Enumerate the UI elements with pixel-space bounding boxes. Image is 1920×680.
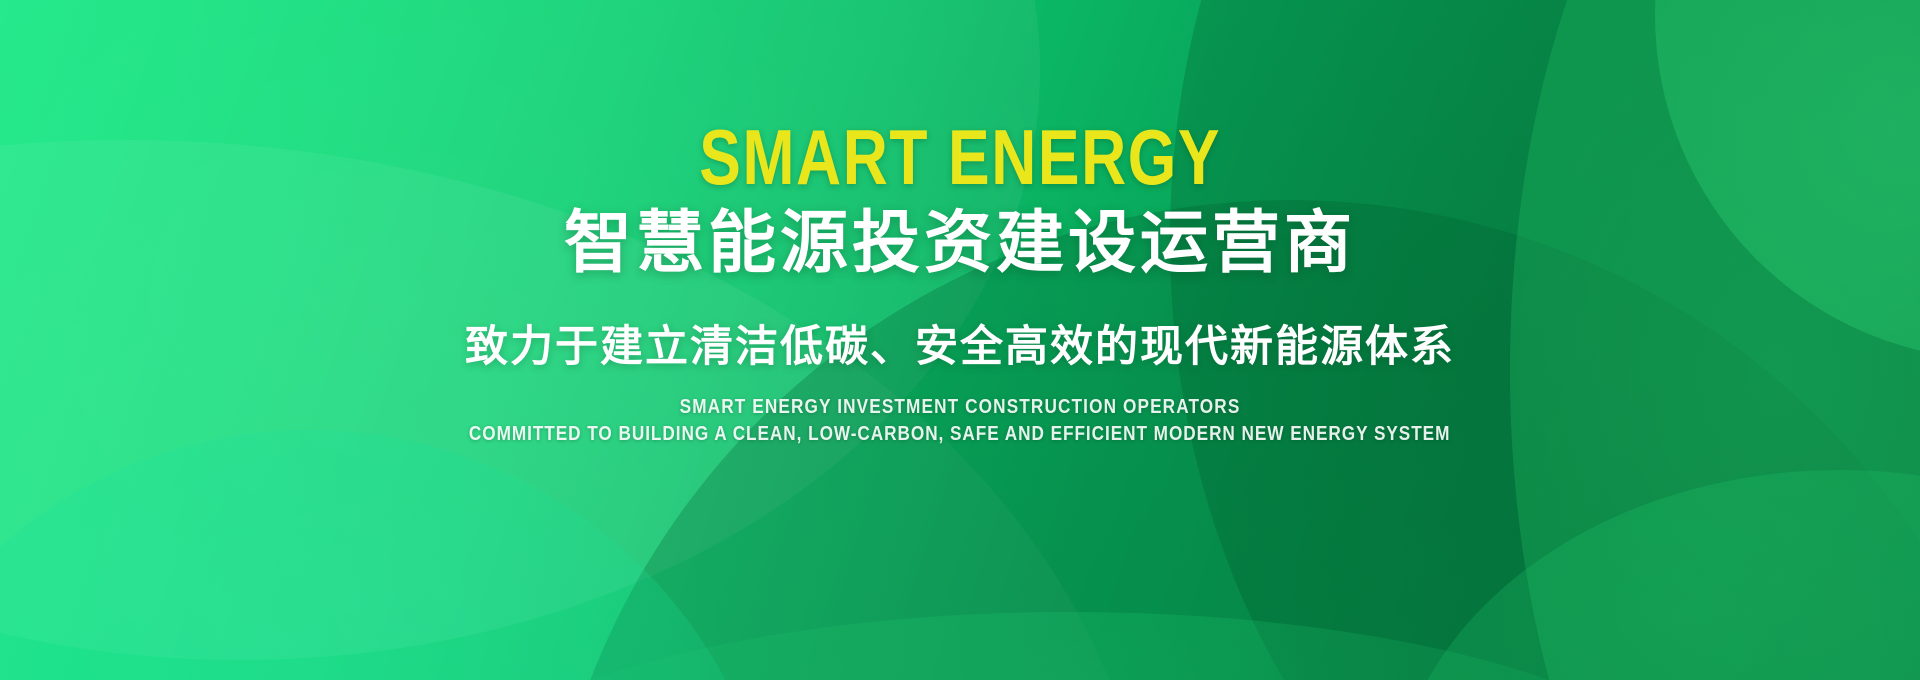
banner-headline-chinese: 智慧能源投资建设运营商 bbox=[564, 208, 1356, 280]
hero-banner: SMART ENERGY 智慧能源投资建设运营商 致力于建立清洁低碳、安全高效的… bbox=[0, 0, 1920, 680]
banner-tagline-group: SMART ENERGY INVESTMENT CONSTRUCTION OPE… bbox=[389, 397, 1530, 444]
banner-tagline-line-1: SMART ENERGY INVESTMENT CONSTRUCTION OPE… bbox=[680, 397, 1241, 417]
banner-tagline-line-2: COMMITTED TO BUILDING A CLEAN, LOW-CARBO… bbox=[469, 424, 1450, 444]
banner-content: SMART ENERGY 智慧能源投资建设运营商 致力于建立清洁低碳、安全高效的… bbox=[0, 0, 1920, 680]
banner-subheadline-chinese: 致力于建立清洁低碳、安全高效的现代新能源体系 bbox=[465, 324, 1455, 371]
banner-headline-english: SMART ENERGY bbox=[699, 118, 1221, 196]
